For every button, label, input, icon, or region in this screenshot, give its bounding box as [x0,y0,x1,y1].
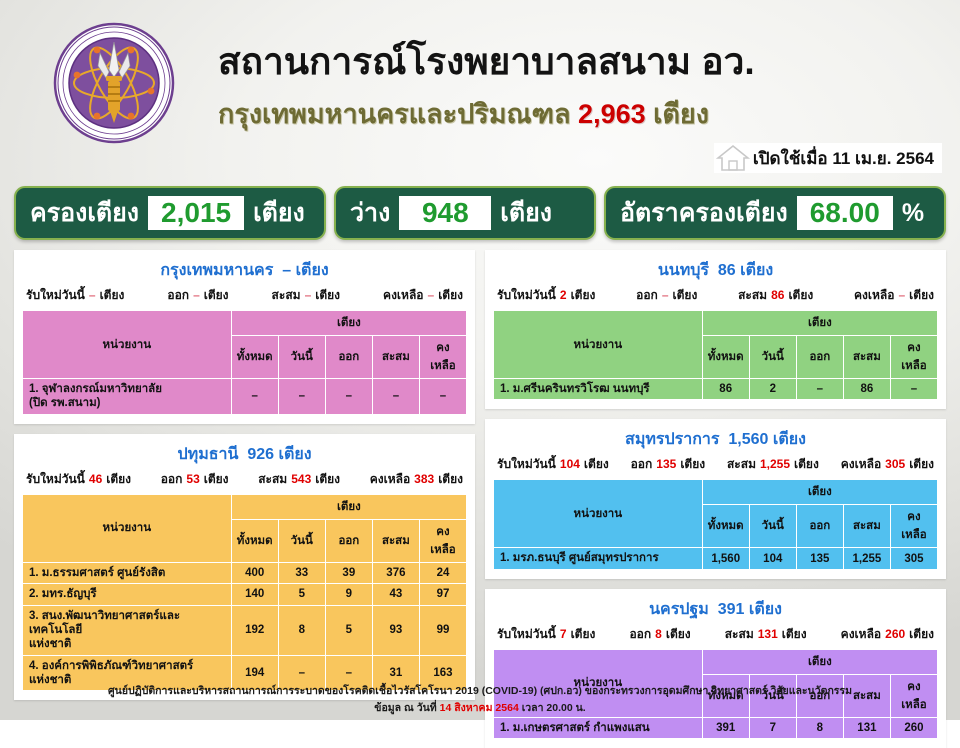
dashboard-header: สถานการณ์โรงพยาบาลสนาม อว. กรุงเทพมหานคร… [0,0,960,185]
cell-total: 86 [702,379,749,400]
footer-data-suffix: เวลา 20.00 น. [519,702,586,714]
footer-data-date: 14 สิงหาคม 2564 [440,702,519,714]
cell-remaining: 305 [890,548,937,569]
stat-discharged-nakhon-pathom: ออก8เตียง [629,625,690,644]
col-header-unit: หน่วยงาน [23,311,232,379]
stat-cumulative-pathum-thani-value: 543 [291,472,311,486]
col-header-4: คงเหลือ [419,519,466,562]
left-column: กรุงเทพมหานคร – เตียงรับใหม่วันนี้–เตียง… [14,250,475,682]
province-stats-pathum-thani: รับใหม่วันนี้46เตียงออก53เตียงสะสม543เตี… [22,470,467,494]
province-stats-samut-prakan: รับใหม่วันนี้104เตียงออก135เตียงสะสม1,25… [493,455,938,479]
province-stats-bangkok: รับใหม่วันนี้–เตียงออก–เตียงสะสม–เตียงคง… [22,286,467,310]
stat-occupancy-rate: อัตราครองเตียง 68.00 % [604,186,946,240]
stat-discharged-pathum-thani-unit: เตียง [204,470,229,489]
province-total-unit: เตียง [749,601,782,618]
cell-organization: 1. มรภ.ธนบุรี ศูนย์สมุทรปราการ [494,548,703,569]
stat-remaining-bangkok: คงเหลือ–เตียง [383,286,463,305]
province-name: สมุทรปราการ [625,431,719,448]
province-cards-grid: กรุงเทพมหานคร – เตียงรับใหม่วันนี้–เตียง… [0,250,960,682]
stat-vacant-beds: ว่าง 948 เตียง [334,186,596,240]
stat-remaining-nakhon-pathom-unit: เตียง [909,625,934,644]
col-header-4: คงเหลือ [419,336,466,379]
stat-remaining-samut-prakan-value: 305 [885,457,905,471]
table-header-row-top: หน่วยงานเตียง [23,494,467,519]
province-total-unit: เตียง [296,262,329,279]
stat-cumulative-nonthaburi-unit: เตียง [788,286,813,305]
table-row: 1. ม.เกษตรศาสตร์ กำแพงแสน39178131260 [494,717,938,738]
cell-out: 9 [325,584,372,605]
stat-remaining-pathum-thani-label: คงเหลือ [370,470,410,489]
stat-remaining-nonthaburi-value: – [898,288,905,302]
stat-vacant-unit: เตียง [500,193,552,233]
cell-out: 135 [796,548,843,569]
stat-cumulative-nakhon-pathom-unit: เตียง [782,625,807,644]
province-name: นครปฐม [649,601,709,618]
cell-total: 400 [231,562,278,583]
stat-discharged-pathum-thani: ออก53เตียง [161,470,229,489]
province-name: นนทบุรี [658,262,709,279]
cell-organization: 2. มทร.ธัญบุรี [23,584,232,605]
page-subtitle: กรุงเทพมหานครและปริมณฑล 2,963 เตียง [218,92,938,135]
province-total-beds: 1,560 [728,431,768,448]
col-header-2: ออก [796,505,843,548]
stat-discharged-nonthaburi-label: ออก [636,286,658,305]
stat-remaining-nonthaburi-unit: เตียง [909,286,934,305]
province-card-samut-prakan: สมุทรปราการ 1,560 เตียงรับใหม่วันนี้104เ… [485,419,946,578]
col-header-3: สะสม [372,336,419,379]
stat-discharged-bangkok-label: ออก [167,286,189,305]
cell-cumulative: 376 [372,562,419,583]
col-header-0: ทั้งหมด [231,519,278,562]
cell-cumulative: 86 [843,379,890,400]
stat-cumulative-samut-prakan: สะสม1,255เตียง [727,455,819,474]
stat-remaining-pathum-thani-value: 383 [414,472,434,486]
stat-cumulative-samut-prakan-label: สะสม [727,455,756,474]
stat-discharged-bangkok-unit: เตียง [204,286,229,305]
stat-remaining-nakhon-pathom-value: 260 [885,627,905,641]
opened-date-badge: เปิดใช้เมื่อ 11 เม.ย. 2564 [714,143,942,173]
province-stats-nonthaburi: รับใหม่วันนี้2เตียงออก–เตียงสะสม86เตียงค… [493,286,938,310]
stat-remaining-bangkok-unit: เตียง [438,286,463,305]
cell-remaining: 99 [419,605,466,655]
bed-table-bangkok: หน่วยงานเตียงทั้งหมดวันนี้ออกสะสมคงเหลือ… [22,310,467,415]
table-row: 2. มทร.ธัญบุรี140594397 [23,584,467,605]
stat-new-today-nonthaburi: รับใหม่วันนี้2เตียง [497,286,595,305]
stat-rate-unit: % [902,199,924,228]
col-header-2: ออก [796,336,843,379]
cell-remaining: – [419,379,466,415]
footer-line-1: ศูนย์ปฏิบัติการและบริหารสถานการณ์การระบา… [0,683,960,699]
stat-cumulative-bangkok-label: สะสม [272,286,301,305]
table-header-row-top: หน่วยงานเตียง [494,649,938,674]
right-column: นนทบุรี 86 เตียงรับใหม่วันนี้2เตียงออก–เ… [485,250,946,682]
province-stats-nakhon-pathom: รับใหม่วันนี้7เตียงออก8เตียงสะสม131เตียง… [493,625,938,649]
col-header-unit: หน่วยงาน [494,311,703,379]
col-header-4: คงเหลือ [890,505,937,548]
province-title-nakhon-pathom: นครปฐม 391 เตียง [493,595,938,625]
stat-occupied-value: 2,015 [161,197,231,228]
stat-occupied-beds: ครองเตียง 2,015 เตียง [14,186,326,240]
stat-new-today-pathum-thani-label: รับใหม่วันนี้ [26,470,85,489]
stat-remaining-bangkok-label: คงเหลือ [383,286,423,305]
ministry-emblem-icon [53,22,175,144]
province-card-nakhon-pathom: นครปฐม 391 เตียงรับใหม่วันนี้7เตียงออก8เ… [485,589,946,748]
col-header-3: สะสม [843,505,890,548]
province-title-nonthaburi: นนทบุรี 86 เตียง [493,256,938,286]
footer-credits: ศูนย์ปฏิบัติการและบริหารสถานการณ์การระบา… [0,683,960,716]
cell-organization: 1. จุฬาลงกรณ์มหาวิทยาลัย(ปิด รพ.สนาม) [23,379,232,415]
cell-cumulative: 43 [372,584,419,605]
province-title-bangkok: กรุงเทพมหานคร – เตียง [22,256,467,286]
col-header-bed-group: เตียง [231,311,466,336]
stat-cumulative-bangkok-value: – [305,288,312,302]
stat-discharged-nakhon-pathom-value: 8 [655,627,662,641]
stat-cumulative-samut-prakan-unit: เตียง [794,455,819,474]
cell-out: – [325,379,372,415]
stat-remaining-nakhon-pathom-label: คงเหลือ [841,625,881,644]
cell-remaining: 24 [419,562,466,583]
col-header-1: วันนี้ [278,519,325,562]
stat-remaining-pathum-thani-unit: เตียง [438,470,463,489]
stat-new-today-nakhon-pathom-value: 7 [560,627,567,641]
table-header-row-top: หน่วยงานเตียง [494,311,938,336]
stat-discharged-nonthaburi-value: – [662,288,669,302]
col-header-2: ออก [325,336,372,379]
province-total-beds: 926 [247,446,274,463]
col-header-bed-group: เตียง [702,311,937,336]
stat-rate-value-box: 68.00 [797,196,893,230]
col-header-3: สะสม [843,336,890,379]
stat-discharged-nonthaburi: ออก–เตียง [636,286,697,305]
cell-total: 192 [231,605,278,655]
cell-total: 140 [231,584,278,605]
col-header-bed-group: เตียง [231,494,466,519]
table-row: 1. ม.ศรีนครินทรวิโรฒ นนทบุรี862–86– [494,379,938,400]
cell-today: – [278,379,325,415]
stat-cumulative-nakhon-pathom-value: 131 [758,627,778,641]
stat-rate-label: อัตราครองเตียง [620,193,788,233]
stat-discharged-samut-prakan-label: ออก [631,455,653,474]
stat-discharged-pathum-thani-label: ออก [161,470,183,489]
province-total-beds: – [282,262,291,279]
col-header-1: วันนี้ [749,505,796,548]
stat-new-today-pathum-thani-value: 46 [89,472,102,486]
cell-today: 8 [278,605,325,655]
stat-cumulative-pathum-thani-unit: เตียง [315,470,340,489]
cell-today: 7 [749,717,796,738]
stat-cumulative-nakhon-pathom-label: สะสม [725,625,754,644]
stat-discharged-samut-prakan-unit: เตียง [680,455,705,474]
cell-today: 33 [278,562,325,583]
cell-total: 391 [702,717,749,738]
cell-out: 5 [325,605,372,655]
stat-discharged-pathum-thani-value: 53 [186,472,199,486]
cell-today: 104 [749,548,796,569]
col-header-bed-group: เตียง [702,649,937,674]
bed-table-samut-prakan: หน่วยงานเตียงทั้งหมดวันนี้ออกสะสมคงเหลือ… [493,479,938,569]
table-row: 1. มรภ.ธนบุรี ศูนย์สมุทรปราการ1,56010413… [494,548,938,569]
stat-occupied-unit: เตียง [253,193,305,233]
footer-data-prefix: ข้อมูล ณ วันที่ [374,702,439,714]
cell-organization: 1. ม.เกษตรศาสตร์ กำแพงแสน [494,717,703,738]
stat-new-today-nakhon-pathom: รับใหม่วันนี้7เตียง [497,625,595,644]
stat-remaining-samut-prakan-label: คงเหลือ [841,455,881,474]
col-header-4: คงเหลือ [890,336,937,379]
col-header-bed-group: เตียง [702,480,937,505]
ministry-emblem-logo [53,22,175,144]
table-row: 1. จุฬาลงกรณ์มหาวิทยาลัย(ปิด รพ.สนาม)–––… [23,379,467,415]
stat-cumulative-nonthaburi-value: 86 [771,288,784,302]
stat-new-today-bangkok-value: – [89,288,96,302]
cell-today: 5 [278,584,325,605]
bed-table-nonthaburi: หน่วยงานเตียงทั้งหมดวันนี้ออกสะสมคงเหลือ… [493,310,938,400]
stat-remaining-pathum-thani: คงเหลือ383เตียง [370,470,463,489]
col-header-0: ทั้งหมด [702,336,749,379]
stat-discharged-nonthaburi-unit: เตียง [673,286,698,305]
cell-organization: 1. ม.ศรีนครินทรวิโรฒ นนทบุรี [494,379,703,400]
col-header-unit: หน่วยงาน [23,494,232,562]
cell-today: 2 [749,379,796,400]
cell-cumulative: 131 [843,717,890,738]
table-header-row-top: หน่วยงานเตียง [23,311,467,336]
province-card-nonthaburi: นนทบุรี 86 เตียงรับใหม่วันนี้2เตียงออก–เ… [485,250,946,409]
stat-discharged-samut-prakan-value: 135 [656,457,676,471]
subtitle-region: กรุงเทพมหานครและปริมณฑล [218,99,571,129]
stat-new-today-nonthaburi-value: 2 [560,288,567,302]
cell-remaining: – [890,379,937,400]
stat-new-today-nakhon-pathom-unit: เตียง [571,625,596,644]
stat-new-today-bangkok-unit: เตียง [100,286,125,305]
stat-remaining-samut-prakan-unit: เตียง [909,455,934,474]
cell-total: 1,560 [702,548,749,569]
province-total-beds: 391 [718,601,745,618]
stat-occupied-value-box: 2,015 [148,196,244,230]
cell-out: 8 [796,717,843,738]
stat-cumulative-bangkok-unit: เตียง [315,286,340,305]
cell-remaining: 260 [890,717,937,738]
cell-total: – [231,379,278,415]
stat-remaining-bangkok-value: – [428,288,435,302]
cell-cumulative: – [372,379,419,415]
stat-new-today-nakhon-pathom-label: รับใหม่วันนี้ [497,625,556,644]
stat-rate-value: 68.00 [810,197,880,228]
stat-discharged-nakhon-pathom-unit: เตียง [666,625,691,644]
stat-new-today-samut-prakan-unit: เตียง [584,455,609,474]
cell-out: 39 [325,562,372,583]
stat-vacant-label: ว่าง [350,193,390,233]
province-total-unit: เตียง [740,262,773,279]
cell-cumulative: 1,255 [843,548,890,569]
province-card-bangkok: กรุงเทพมหานคร – เตียงรับใหม่วันนี้–เตียง… [14,250,475,424]
stat-vacant-value-box: 948 [399,196,491,230]
stat-cumulative-nonthaburi: สะสม86เตียง [738,286,813,305]
cell-organization: 3. สนง.พัฒนาวิทยาศาสตร์และเทคโนโลยีแห่งช… [23,605,232,655]
subtitle-total-unit: เตียง [653,99,709,129]
stat-occupied-label: ครองเตียง [30,193,139,233]
stat-new-today-samut-prakan-label: รับใหม่วันนี้ [497,455,556,474]
stat-cumulative-samut-prakan-value: 1,255 [760,457,790,471]
col-header-1: วันนี้ [749,336,796,379]
stat-cumulative-nakhon-pathom: สะสม131เตียง [725,625,807,644]
stat-new-today-bangkok-label: รับใหม่วันนี้ [26,286,85,305]
stat-new-today-nonthaburi-unit: เตียง [571,286,596,305]
stat-cumulative-pathum-thani: สะสม543เตียง [258,470,340,489]
col-header-3: สะสม [372,519,419,562]
stat-new-today-pathum-thani: รับใหม่วันนี้46เตียง [26,470,131,489]
stat-discharged-nakhon-pathom-label: ออก [629,625,651,644]
cell-out: – [796,379,843,400]
cell-cumulative: 93 [372,605,419,655]
bed-table-pathum-thani: หน่วยงานเตียงทั้งหมดวันนี้ออกสะสมคงเหลือ… [22,494,467,692]
table-row: 1. ม.ธรรมศาสตร์ ศูนย์รังสิต400333937624 [23,562,467,583]
province-title-samut-prakan: สมุทรปราการ 1,560 เตียง [493,425,938,455]
stat-vacant-value: 948 [422,197,469,228]
province-card-pathum-thani: ปทุมธานี 926 เตียงรับใหม่วันนี้46เตียงออ… [14,434,475,701]
stat-new-today-nonthaburi-label: รับใหม่วันนี้ [497,286,556,305]
house-icon [716,144,750,172]
col-header-1: วันนี้ [278,336,325,379]
stat-discharged-samut-prakan: ออก135เตียง [631,455,706,474]
footer-line-2: ข้อมูล ณ วันที่ 14 สิงหาคม 2564 เวลา 20.… [0,700,960,716]
summary-stats-bar: ครองเตียง 2,015 เตียง ว่าง 948 เตียง อัต… [0,186,960,246]
table-header-row-top: หน่วยงานเตียง [494,480,938,505]
cell-remaining: 97 [419,584,466,605]
province-total-beds: 86 [718,262,736,279]
col-header-unit: หน่วยงาน [494,480,703,548]
subtitle-total-beds: 2,963 [578,99,646,129]
col-header-0: ทั้งหมด [231,336,278,379]
col-header-0: ทั้งหมด [702,505,749,548]
stat-discharged-bangkok-value: – [193,288,200,302]
col-header-2: ออก [325,519,372,562]
stat-cumulative-bangkok: สะสม–เตียง [272,286,341,305]
stat-remaining-samut-prakan: คงเหลือ305เตียง [841,455,934,474]
stat-new-today-pathum-thani-unit: เตียง [106,470,131,489]
dashboard-root: สถานการณ์โรงพยาบาลสนาม อว. กรุงเทพมหานคร… [0,0,960,720]
stat-remaining-nonthaburi-label: คงเหลือ [854,286,894,305]
table-row: 3. สนง.พัฒนาวิทยาศาสตร์และเทคโนโลยีแห่งช… [23,605,467,655]
stat-cumulative-nonthaburi-label: สะสม [738,286,767,305]
province-title-pathum-thani: ปทุมธานี 926 เตียง [22,440,467,470]
stat-new-today-samut-prakan-value: 104 [560,457,580,471]
province-name: กรุงเทพมหานคร [160,262,273,279]
opened-date-label: เปิดใช้เมื่อ 11 เม.ย. 2564 [753,145,934,172]
province-name: ปทุมธานี [177,446,238,463]
stat-new-today-bangkok: รับใหม่วันนี้–เตียง [26,286,124,305]
stat-new-today-samut-prakan: รับใหม่วันนี้104เตียง [497,455,609,474]
stat-discharged-bangkok: ออก–เตียง [167,286,228,305]
stat-remaining-nakhon-pathom: คงเหลือ260เตียง [841,625,934,644]
stat-cumulative-pathum-thani-label: สะสม [258,470,287,489]
stat-remaining-nonthaburi: คงเหลือ–เตียง [854,286,934,305]
province-total-unit: เตียง [278,446,311,463]
page-title: สถานการณ์โรงพยาบาลสนาม อว. [218,32,918,91]
cell-organization: 1. ม.ธรรมศาสตร์ ศูนย์รังสิต [23,562,232,583]
province-total-unit: เตียง [773,431,806,448]
